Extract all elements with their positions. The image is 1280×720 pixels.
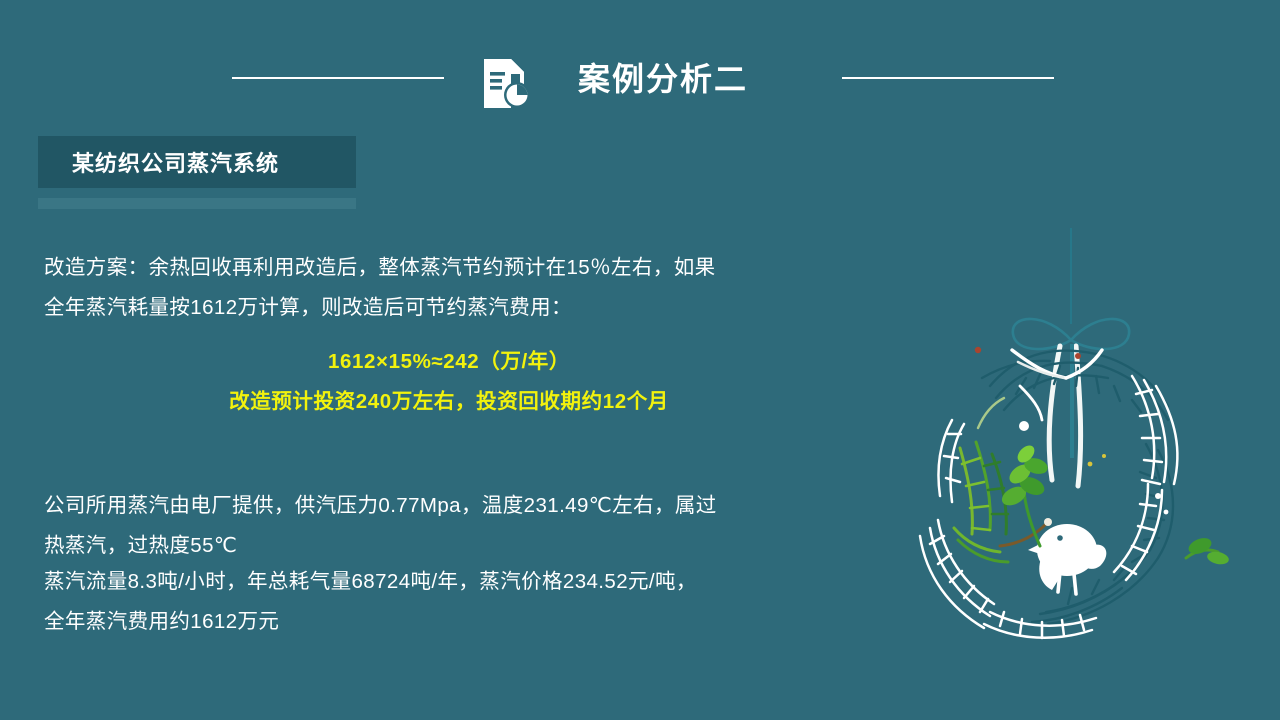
flow-paragraph: 蒸汽流量8.3吨/小时，年总耗气量68724吨/年，蒸汽价格234.52元/吨，… bbox=[44, 562, 697, 642]
wreath-green-accent-right bbox=[1186, 535, 1230, 566]
page-header: 案例分析二 bbox=[0, 0, 1280, 130]
header-rule-right bbox=[842, 77, 1054, 79]
section-banner-underbar bbox=[38, 198, 356, 209]
specs-paragraph: 公司所用蒸汽由电厂提供，供汽压力0.77Mpa，温度231.49℃左右，属过 热… bbox=[44, 486, 717, 566]
intro-line-1: 改造方案：余热回收再利用改造后，整体蒸汽节约预计在15％左右，如果 bbox=[44, 248, 716, 288]
section-banner: 某纺织公司蒸汽系统 bbox=[38, 136, 356, 188]
highlight-note: 改造预计投资240万左右，投资回收期约12个月 bbox=[44, 382, 854, 422]
specs-line-1: 公司所用蒸汽由电厂提供，供汽压力0.77Mpa，温度231.49℃左右，属过 bbox=[44, 486, 717, 526]
wreath-feather-spray bbox=[975, 347, 1102, 431]
highlight-formula: 1612×15%≈242（万/年） bbox=[44, 342, 854, 382]
flow-line-2: 全年蒸汽费用约1612万元 bbox=[44, 602, 697, 642]
wreath-illustration bbox=[900, 228, 1242, 648]
intro-paragraph: 改造方案：余热回收再利用改造后，整体蒸汽节约预计在15％左右，如果 全年蒸汽耗量… bbox=[44, 248, 716, 328]
section-banner-label: 某纺织公司蒸汽系统 bbox=[38, 146, 279, 178]
intro-line-2: 全年蒸汽耗量按1612万计算，则改造后可节约蒸汽费用： bbox=[44, 288, 716, 328]
header-rule-left bbox=[232, 77, 444, 79]
page-title: 案例分析二 bbox=[578, 55, 808, 103]
specs-line-2: 热蒸汽，过热度55℃ bbox=[44, 526, 717, 566]
flow-line-1: 蒸汽流量8.3吨/小时，年总耗气量68724吨/年，蒸汽价格234.52元/吨， bbox=[44, 562, 697, 602]
document-chart-icon bbox=[478, 56, 532, 110]
